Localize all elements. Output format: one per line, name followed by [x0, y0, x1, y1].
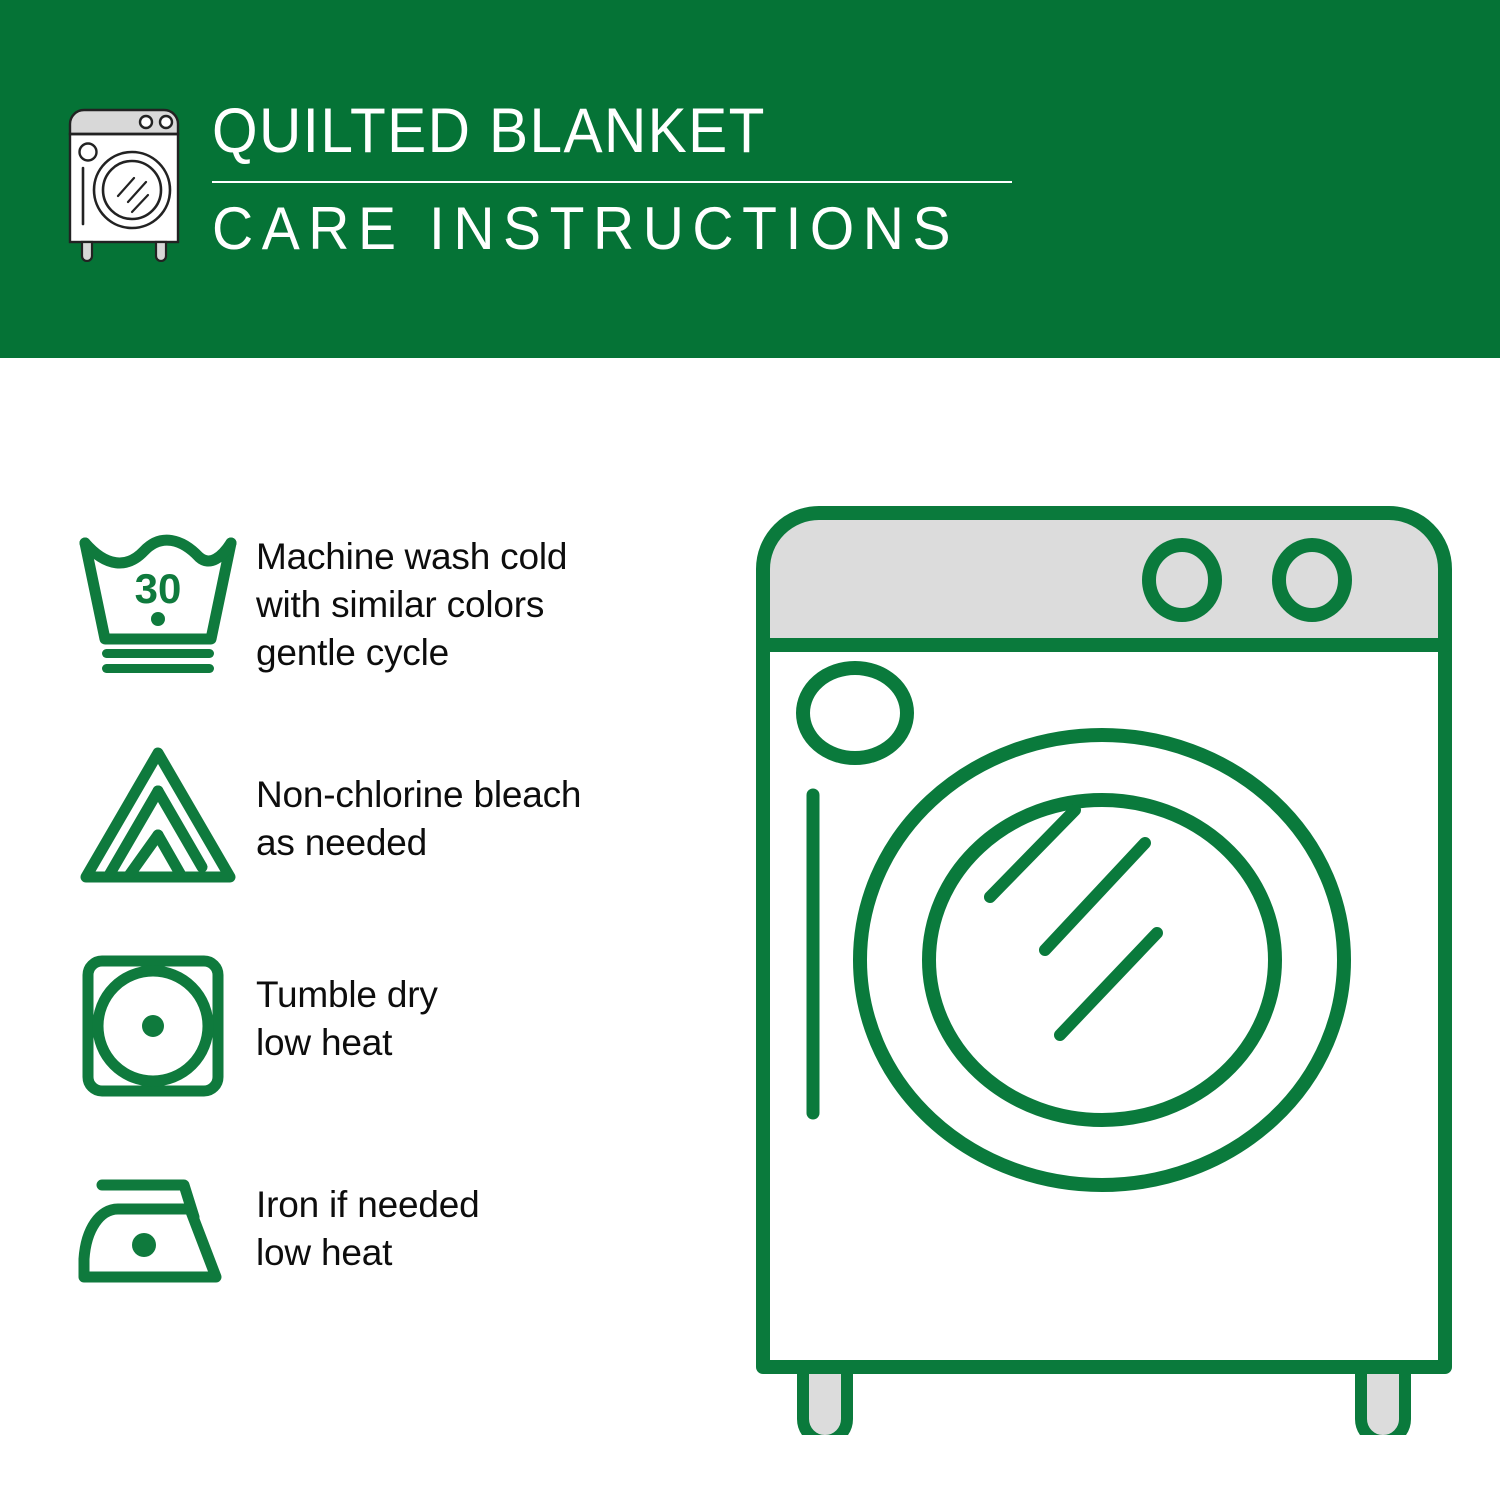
care-text-iron: Iron if needed low heat — [244, 1159, 712, 1277]
care-line: gentle cycle — [256, 629, 712, 677]
detergent-button — [803, 668, 907, 758]
care-line: Tumble dry — [256, 971, 712, 1019]
care-line: low heat — [256, 1019, 712, 1067]
wash-temperature-label: 30 — [135, 565, 182, 612]
care-instructions-page: QUILTED BLANKET CARE INSTRUCTIONS — [0, 0, 1500, 1500]
care-text-bleach: Non-chlorine bleach as needed — [244, 723, 712, 867]
care-line: Iron if needed — [256, 1181, 712, 1229]
header-title-group: QUILTED BLANKET CARE INSTRUCTIONS — [212, 96, 1012, 259]
knob-right — [1279, 545, 1345, 615]
care-row-wash: 30 Machine wash cold with similar colors… — [72, 505, 712, 723]
care-line: as needed — [256, 819, 712, 867]
page-title: QUILTED BLANKET — [212, 100, 956, 163]
iron-low-heat-icon — [72, 1159, 244, 1301]
title-divider — [212, 181, 1012, 183]
non-chlorine-bleach-triangle-icon — [72, 723, 244, 889]
care-text-tumble-dry: Tumble dry low heat — [244, 941, 712, 1067]
care-instructions-list: 30 Machine wash cold with similar colors… — [72, 505, 712, 1377]
care-line: Machine wash cold — [256, 533, 712, 581]
header-content: QUILTED BLANKET CARE INSTRUCTIONS — [62, 96, 1012, 262]
page-subtitle: CARE INSTRUCTIONS — [212, 199, 972, 259]
care-row-iron: Iron if needed low heat — [72, 1159, 712, 1377]
washing-machine-icon — [62, 102, 194, 262]
care-row-bleach: Non-chlorine bleach as needed — [72, 723, 712, 941]
leg-right — [1361, 1367, 1405, 1435]
knob-left — [1149, 545, 1215, 615]
care-line: low heat — [256, 1229, 712, 1277]
care-row-tumble-dry: Tumble dry low heat — [72, 941, 712, 1159]
care-text-wash: Machine wash cold with similar colors ge… — [244, 505, 712, 677]
wash-tub-30-icon: 30 — [72, 505, 244, 677]
header-banner: QUILTED BLANKET CARE INSTRUCTIONS — [0, 0, 1500, 358]
leg-left — [803, 1367, 847, 1435]
tumble-dry-low-icon — [72, 941, 244, 1101]
care-line: with similar colors — [256, 581, 712, 629]
door-inner-ring — [929, 800, 1275, 1120]
care-line: Non-chlorine bleach — [256, 771, 712, 819]
washing-machine-illustration — [745, 495, 1465, 1435]
